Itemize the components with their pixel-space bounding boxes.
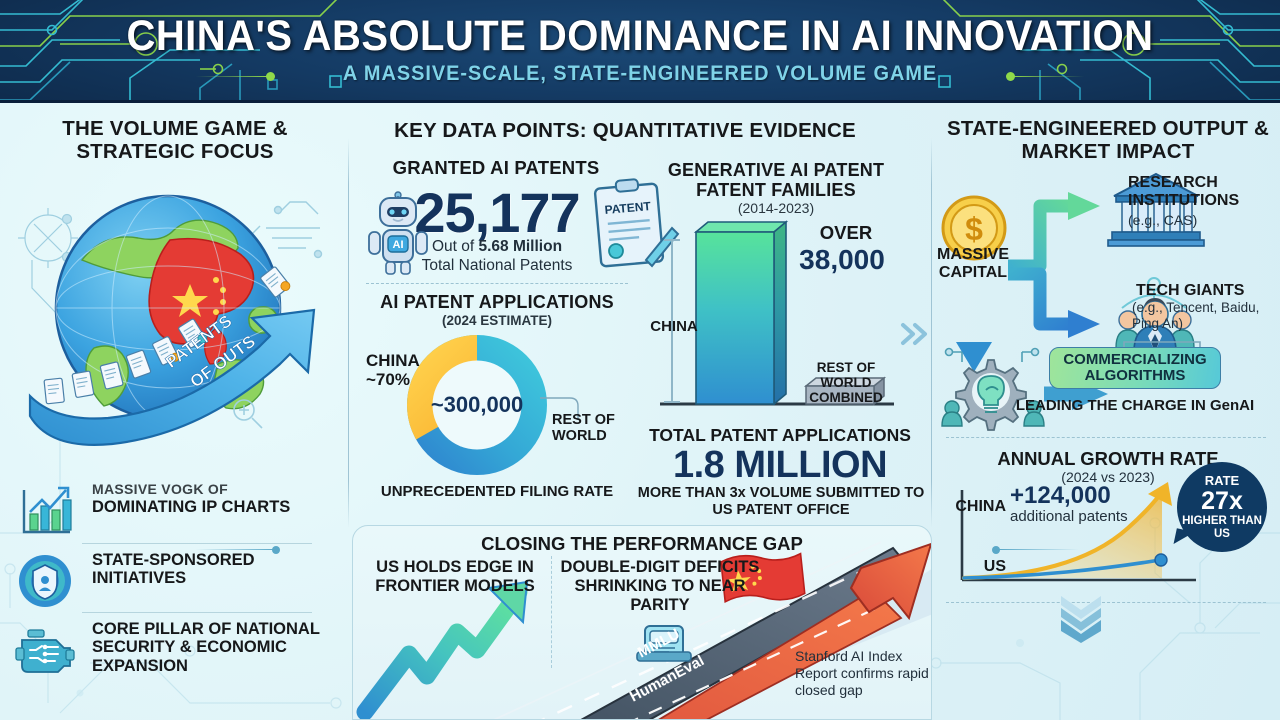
header-banner: CHINA'S ABSOLUTE DOMINANCE IN AI INNOVAT… <box>0 0 1280 103</box>
list-item-label: CORE PILLAR OF NATIONAL SECURITY & ECONO… <box>92 620 346 675</box>
patent-families-title: GENERATIVE AI PATENT FATENT FAMILIES <box>650 160 902 200</box>
total-applications-value: 1.8 MILLION <box>640 444 920 487</box>
divider-left-middle <box>348 138 349 528</box>
growth-us-label: US <box>940 558 1006 576</box>
divider-right-sections <box>946 437 1266 438</box>
list-item-label: STATE-SPONSORED INITIATIVES <box>92 551 346 588</box>
leading-charge-caption: LEADING THE CHARGE IN GenAI <box>1010 397 1260 414</box>
infographic-page: CHINA'S ABSOLUTE DOMINANCE IN AI INNOVAT… <box>0 0 1280 720</box>
divider-granted-applications <box>366 283 628 284</box>
header-bottom-rule <box>0 100 1280 103</box>
families-over-label: OVER <box>790 222 902 244</box>
gap-rule-left <box>195 549 275 550</box>
patent-families-years: (2014-2023) <box>650 200 902 216</box>
applications-subtitle: (2024 ESTIMATE) <box>366 313 628 328</box>
filing-rate-caption: UNPRECEDENTED FILING RATE <box>356 483 638 500</box>
middle-section-title: KEY DATA POINTS: QUANTITATIVE EVIDENCE <box>355 120 895 143</box>
tech-giants-example: (e.g., Tencent, Baidu, Ping An) <box>1132 300 1280 331</box>
families-over-value: 38,000 <box>780 244 904 276</box>
list-divider <box>82 543 312 544</box>
globe-patents-illustration: PATENTS OF OUTS <box>20 168 330 438</box>
granted-sub-bold: 5.68 Million <box>478 238 562 255</box>
growth-rate-badge: RATE 27x HIGHER THAN US <box>1177 462 1267 552</box>
chevron-down-stack-icon <box>1058 592 1104 644</box>
badge-line-3: HIGHER THAN US <box>1177 515 1267 540</box>
donut-rest-label: REST OF WORLD <box>552 412 630 444</box>
growth-value-subtext: additional patents <box>1010 508 1180 525</box>
applications-title: AI PATENT APPLICATIONS <box>366 292 628 312</box>
tech-giants-label: TECH GIANTS <box>1136 282 1278 300</box>
granted-sub-prefix: Out of <box>432 238 479 255</box>
deficit-shrinking-label: DOUBLE-DIGIT DEFICITS SHRINKING TO NEAR … <box>560 558 760 615</box>
divider-right-bottom <box>946 602 1266 603</box>
list-divider <box>82 612 312 613</box>
gap-vertical-divider <box>551 556 552 668</box>
ai-robot-icon: AI <box>362 192 432 276</box>
performance-gap-title: CLOSING THE PERFORMANCE GAP <box>352 533 932 555</box>
list-item-kicker: MASSIVE VOGK OF <box>92 482 346 498</box>
right-section-title: STATE-ENGINEERED OUTPUT & MARKET IMPACT <box>938 118 1278 164</box>
research-institutions-example: (e.g., CAS) <box>1128 212 1278 228</box>
page-subtitle: A MASSIVE-SCALE, STATE-ENGINEERED VOLUME… <box>32 62 1248 86</box>
gap-dot-left <box>272 546 280 554</box>
donut-center-value: ~300,000 <box>404 392 550 418</box>
bar-chart-growth-icon <box>14 484 76 540</box>
granted-patents-title: GRANTED AI PATENTS <box>366 158 626 179</box>
svg-text:AI: AI <box>393 239 404 251</box>
commercializing-algorithms-pill: COMMERCIALIZING ALGORITHMS <box>1049 347 1221 389</box>
chevron-right-accent-icon <box>898 320 932 348</box>
families-rest-label: REST OF WORLD COMBINED <box>790 360 902 405</box>
list-item-label: MASSIVE VOGK OF DOMINATING IP CHARTS <box>92 482 346 516</box>
total-applications-title: TOTAL PATENT APPLICATIONS <box>640 425 920 446</box>
list-item-title: DOMINATING IP CHARTS <box>92 498 290 516</box>
commercializing-algorithms-label: COMMERCIALIZING ALGORITHMS <box>1050 352 1220 385</box>
badge-line-2: 27x <box>1201 489 1243 514</box>
donut-china-label: CHINA ~70% <box>366 352 424 389</box>
page-title: CHINA'S ABSOLUTE DOMINANCE IN AI INNOVAT… <box>45 12 1235 61</box>
research-institutions-label: RESEARCH INSTITUTIONS <box>1128 174 1278 210</box>
growth-china-label: CHINA <box>940 498 1006 516</box>
stanford-source-note: Stanford AI Index Report confirms rapid … <box>795 648 933 699</box>
badge-line-1: RATE <box>1205 473 1239 488</box>
svg-text:$: $ <box>965 211 983 247</box>
growth-value: +124,000 <box>1010 482 1166 510</box>
engine-chip-icon <box>14 622 76 678</box>
us-edge-label: US HOLDS EDGE IN FRONTIER MODELS <box>360 558 550 596</box>
total-applications-subtext: MORE THAN 3x VOLUME SUBMITTED TO US PATE… <box>636 485 926 519</box>
massive-capital-label: MASSIVE CAPITAL <box>926 246 1020 282</box>
families-china-label: CHINA <box>646 318 702 335</box>
left-section-title: THE VOLUME GAME & STRATEGIC FOCUS <box>10 118 340 164</box>
granted-sub-line2: Total National Patents <box>422 257 573 274</box>
shield-badge-icon <box>14 553 76 609</box>
